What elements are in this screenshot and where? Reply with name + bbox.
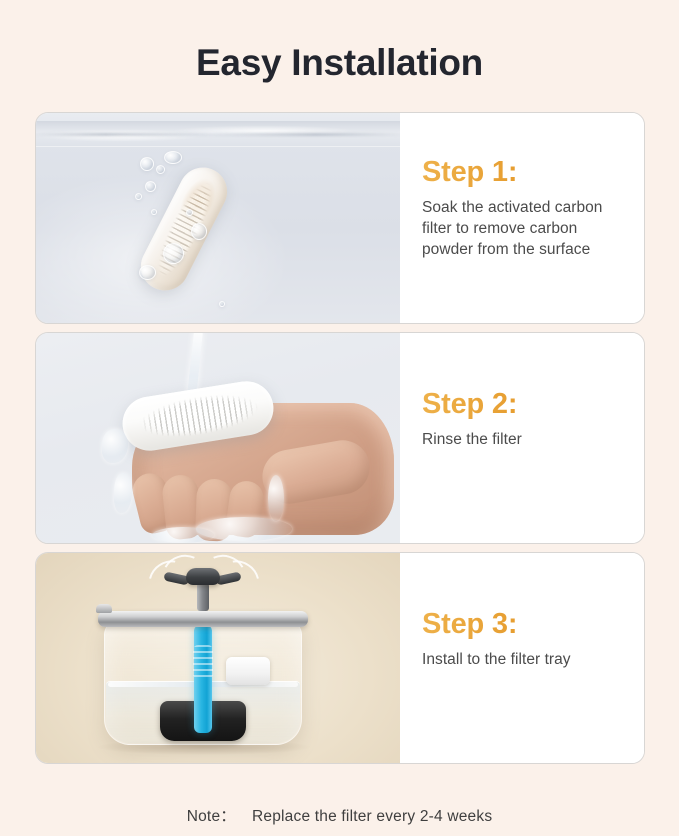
pump-tube-icon: [194, 625, 212, 733]
step-description-2: Rinse the filter: [422, 429, 626, 450]
step-description-3: Install to the filter tray: [422, 649, 626, 670]
water-splash-icon: [114, 473, 132, 513]
steps-list: Step 1: Soak the activated carbon filter…: [35, 112, 645, 772]
figure-hand-rinsing-filter: [36, 333, 400, 543]
step-label-3: Step 3:: [422, 607, 626, 641]
water-splash-icon: [102, 429, 128, 463]
figure-filter-submerged-in-water: [36, 113, 400, 323]
bubble-icon: [156, 165, 165, 174]
bubble-icon: [219, 301, 225, 307]
bubble-icon: [145, 181, 156, 192]
footer-note-text: Replace the filter every 2-4 weeks: [252, 808, 492, 825]
footer-note: Note： Replace the filter every 2-4 weeks: [0, 804, 679, 826]
step-card-1: Step 1: Soak the activated carbon filter…: [35, 112, 645, 324]
bubble-icon: [151, 209, 157, 215]
step-label-2: Step 2:: [422, 387, 626, 421]
bubble-icon: [139, 265, 156, 280]
lid-tab-icon: [96, 604, 112, 613]
bubble-icon: [164, 151, 182, 164]
step-text-1: Step 1: Soak the activated carbon filter…: [400, 113, 644, 323]
bubble-icon: [163, 243, 184, 264]
bubble-icon: [135, 193, 142, 200]
bubble-icon: [186, 209, 193, 216]
page-title: Easy Installation: [0, 40, 679, 86]
pump-tube-ribs: [193, 645, 213, 679]
bubble-icon: [140, 157, 154, 171]
step-text-3: Step 3: Install to the filter tray: [400, 553, 644, 763]
bubble-icon: [191, 223, 207, 240]
figure-fountain-filter-tray: [36, 553, 400, 763]
cartridge-coil-texture: [136, 388, 262, 445]
step-card-3: Step 3: Install to the filter tray: [35, 552, 645, 764]
white-filter-block-icon: [226, 657, 270, 685]
water-splash-icon: [152, 527, 214, 543]
step-card-2: Step 2: Rinse the filter: [35, 332, 645, 544]
water-splash-icon: [268, 475, 284, 521]
step-text-2: Step 2: Rinse the filter: [400, 333, 644, 543]
footer-note-label: Note：: [187, 808, 236, 825]
water-haze: [36, 113, 400, 323]
step-label-1: Step 1:: [422, 155, 626, 189]
fountain-lid-icon: [98, 611, 308, 627]
step-description-1: Soak the activated carbon filter to remo…: [422, 197, 626, 260]
infographic-page: Easy Installation: [0, 0, 679, 836]
